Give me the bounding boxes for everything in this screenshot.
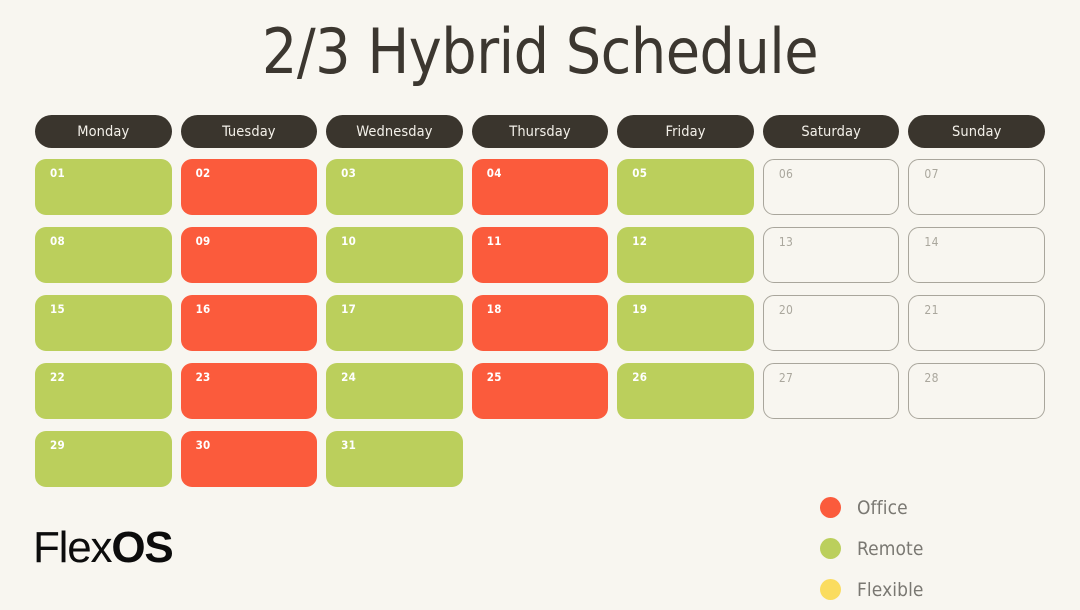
calendar-cell-date: 19 — [632, 303, 754, 315]
calendar-cell-blank — [763, 431, 900, 487]
legend-item-remote: Remote — [820, 528, 1040, 569]
calendar-cell-date: 30 — [196, 439, 318, 451]
calendar-cell-date: 24 — [341, 371, 463, 383]
calendar-cell-date: 27 — [779, 372, 899, 384]
day-header-sunday: Sunday — [908, 115, 1045, 148]
calendar-cell-date: 01 — [50, 167, 172, 179]
calendar-cell-date: 25 — [487, 371, 609, 383]
calendar-cell-21[interactable]: 21 — [908, 295, 1045, 351]
legend-item-flexible: Flexible — [820, 569, 1040, 610]
calendar-cell-date: 12 — [632, 235, 754, 247]
calendar-cell-10[interactable]: 10 — [326, 227, 463, 283]
calendar-cell-09[interactable]: 09 — [181, 227, 318, 283]
day-header-label: Saturday — [801, 124, 861, 140]
calendar-cell-date: 11 — [487, 235, 609, 247]
calendar-cell-date: 05 — [632, 167, 754, 179]
calendar-cell-12[interactable]: 12 — [617, 227, 754, 283]
page-title: 2/3 Hybrid Schedule — [0, 10, 1080, 94]
calendar-week-row: 01020304050607 — [35, 159, 1045, 215]
calendar-cell-03[interactable]: 03 — [326, 159, 463, 215]
legend: OfficeRemoteFlexible — [820, 487, 1040, 610]
day-header-label: Thursday — [509, 124, 570, 140]
calendar-cell-18[interactable]: 18 — [472, 295, 609, 351]
calendar-cell-25[interactable]: 25 — [472, 363, 609, 419]
calendar-grid: MondayTuesdayWednesdayThursdayFridaySatu… — [35, 115, 1045, 499]
calendar-week-row: 08091011121314 — [35, 227, 1045, 283]
calendar-cell-date: 28 — [924, 372, 1044, 384]
calendar-cell-24[interactable]: 24 — [326, 363, 463, 419]
calendar-cell-date: 06 — [779, 168, 899, 180]
calendar-cell-date: 29 — [50, 439, 172, 451]
legend-label: Office — [857, 497, 908, 519]
calendar-cell-date: 18 — [487, 303, 609, 315]
day-header-label: Monday — [77, 124, 129, 140]
calendar-cell-date: 15 — [50, 303, 172, 315]
calendar-cell-30[interactable]: 30 — [181, 431, 318, 487]
calendar-cell-14[interactable]: 14 — [908, 227, 1045, 283]
legend-label: Remote — [857, 538, 923, 560]
calendar-cell-19[interactable]: 19 — [617, 295, 754, 351]
calendar-cell-31[interactable]: 31 — [326, 431, 463, 487]
schedule-poster: 2/3 Hybrid Schedule MondayTuesdayWednesd… — [0, 0, 1080, 605]
day-header-label: Tuesday — [222, 124, 276, 140]
calendar-cell-date: 26 — [632, 371, 754, 383]
calendar-cell-blank — [617, 431, 754, 487]
calendar-cell-date: 14 — [924, 236, 1044, 248]
calendar-cell-date: 02 — [196, 167, 318, 179]
day-header-friday: Friday — [617, 115, 754, 148]
legend-dot-remote-icon — [820, 538, 841, 559]
calendar-cell-date: 04 — [487, 167, 609, 179]
calendar-cell-29[interactable]: 29 — [35, 431, 172, 487]
calendar-cell-13[interactable]: 13 — [763, 227, 900, 283]
calendar-cell-26[interactable]: 26 — [617, 363, 754, 419]
day-header-thursday: Thursday — [472, 115, 609, 148]
brand-logo-light: Flex — [33, 523, 111, 572]
calendar-cell-02[interactable]: 02 — [181, 159, 318, 215]
day-header-label: Friday — [666, 124, 706, 140]
calendar-cell-date: 16 — [196, 303, 318, 315]
calendar-cell-05[interactable]: 05 — [617, 159, 754, 215]
calendar-cell-11[interactable]: 11 — [472, 227, 609, 283]
calendar-cell-date: 03 — [341, 167, 463, 179]
calendar-cell-23[interactable]: 23 — [181, 363, 318, 419]
calendar-cell-date: 10 — [341, 235, 463, 247]
calendar-cell-27[interactable]: 27 — [763, 363, 900, 419]
legend-item-office: Office — [820, 487, 1040, 528]
calendar-week-row: 22232425262728 — [35, 363, 1045, 419]
calendar-cell-date: 23 — [196, 371, 318, 383]
calendar-cell-04[interactable]: 04 — [472, 159, 609, 215]
brand-logo: FlexOS — [33, 522, 173, 574]
calendar-cell-blank — [472, 431, 609, 487]
calendar-cell-22[interactable]: 22 — [35, 363, 172, 419]
calendar-week-row: 293031 — [35, 431, 1045, 487]
calendar-cell-17[interactable]: 17 — [326, 295, 463, 351]
calendar-cell-date: 09 — [196, 235, 318, 247]
day-header-wednesday: Wednesday — [326, 115, 463, 148]
calendar-cell-08[interactable]: 08 — [35, 227, 172, 283]
brand-logo-bold: OS — [111, 523, 172, 572]
calendar-cell-blank — [908, 431, 1045, 487]
day-header-saturday: Saturday — [763, 115, 900, 148]
calendar-cell-date: 21 — [924, 304, 1044, 316]
legend-label: Flexible — [857, 579, 924, 601]
calendar-week-rows: 0102030405060708091011121314151617181920… — [35, 159, 1045, 487]
day-header-monday: Monday — [35, 115, 172, 148]
calendar-cell-date: 08 — [50, 235, 172, 247]
calendar-cell-date: 20 — [779, 304, 899, 316]
calendar-cell-15[interactable]: 15 — [35, 295, 172, 351]
calendar-cell-01[interactable]: 01 — [35, 159, 172, 215]
calendar-cell-date: 13 — [779, 236, 899, 248]
calendar-cell-date: 22 — [50, 371, 172, 383]
calendar-day-header-row: MondayTuesdayWednesdayThursdayFridaySatu… — [35, 115, 1045, 148]
calendar-week-row: 15161718192021 — [35, 295, 1045, 351]
day-header-label: Sunday — [952, 124, 1001, 140]
calendar-cell-16[interactable]: 16 — [181, 295, 318, 351]
legend-dot-office-icon — [820, 497, 841, 518]
calendar-cell-date: 31 — [341, 439, 463, 451]
calendar-cell-28[interactable]: 28 — [908, 363, 1045, 419]
calendar-cell-date: 07 — [924, 168, 1044, 180]
legend-dot-flexible-icon — [820, 579, 841, 600]
calendar-cell-07[interactable]: 07 — [908, 159, 1045, 215]
calendar-cell-date: 17 — [341, 303, 463, 315]
calendar-cell-20[interactable]: 20 — [763, 295, 900, 351]
day-header-tuesday: Tuesday — [181, 115, 318, 148]
day-header-label: Wednesday — [356, 124, 432, 140]
calendar-cell-06[interactable]: 06 — [763, 159, 900, 215]
